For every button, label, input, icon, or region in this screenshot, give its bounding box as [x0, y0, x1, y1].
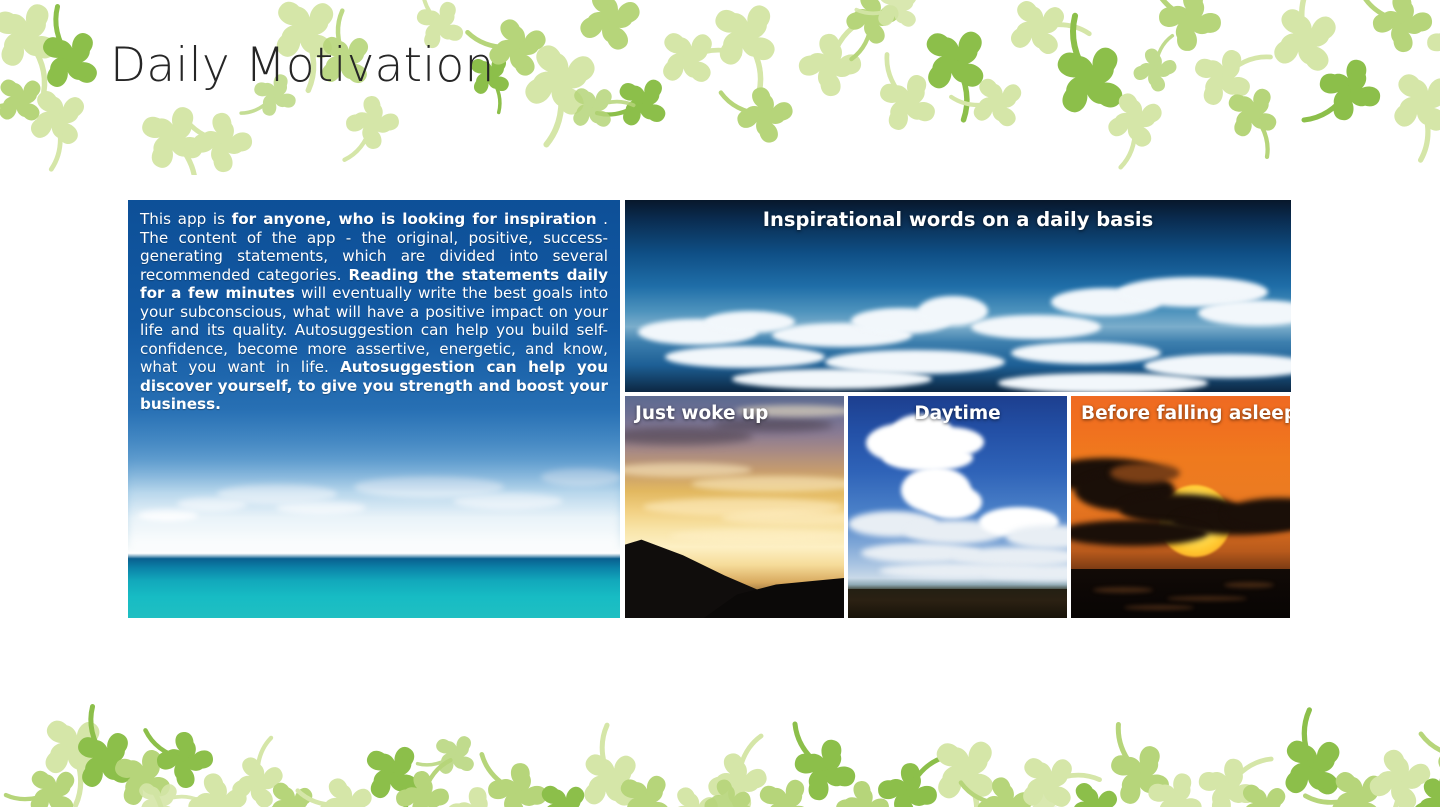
- clover-icon: [10, 750, 95, 807]
- hero-caption: Inspirational words on a daily basis: [625, 208, 1291, 231]
- clover-icon: [1030, 20, 1150, 145]
- clover-icon: [1090, 75, 1180, 170]
- clover-icon: [380, 755, 465, 807]
- clover-icon: [140, 715, 230, 807]
- clover-icon: [1420, 710, 1440, 807]
- clover-icon: [775, 720, 875, 807]
- clover-icon: [1250, 0, 1360, 100]
- thumbnail-caption: Daytime: [848, 403, 1067, 424]
- clover-icon: [1210, 70, 1295, 160]
- clover-icon: [95, 730, 190, 807]
- clover-icon: [560, 0, 660, 75]
- clover-icon: [0, 60, 60, 145]
- thumbnail-caption: Just woke up: [625, 403, 844, 424]
- clover-icon: [20, 10, 120, 115]
- clover-icon: [910, 715, 1020, 807]
- clover-icon: [55, 710, 155, 807]
- clover-icon: [520, 765, 605, 807]
- clover-icon: [1130, 755, 1220, 807]
- clover-icon: [860, 55, 955, 155]
- clover-border-bottom: [0, 655, 1440, 807]
- clover-icon: [1175, 30, 1270, 130]
- clover-icon: [860, 0, 935, 50]
- clover-icon: [860, 745, 955, 807]
- app-description-text: This app is for anyone, who is looking f…: [140, 210, 608, 414]
- clover-icon: [720, 70, 810, 165]
- clover-icon: [1355, 0, 1440, 75]
- clover-icon: [960, 760, 1050, 807]
- thumbnail-row: Just woke up: [625, 396, 1291, 618]
- clover-icon: [250, 765, 330, 807]
- app-description-panel: This app is for anyone, who is looking f…: [128, 200, 620, 618]
- clover-icon: [780, 15, 880, 120]
- clover-icon: [170, 755, 265, 807]
- clover-icon: [20, 695, 125, 805]
- clover-icon: [120, 765, 195, 807]
- thumbnail-caption: Before falling asleep: [1071, 403, 1290, 424]
- clover-icon: [1220, 765, 1305, 807]
- clover-icon: [1120, 35, 1190, 110]
- clover-icon: [690, 735, 785, 807]
- clover-icon: [650, 770, 735, 807]
- clover-icon: [690, 0, 800, 95]
- orange-sunset-sea-photo: [1071, 396, 1290, 618]
- clover-icon: [1300, 40, 1400, 145]
- clover-icon: [430, 770, 520, 807]
- clover-icon: [1410, 0, 1440, 95]
- page-title: Daily Motivation: [110, 38, 495, 93]
- clover-icon: [215, 740, 300, 807]
- thumbnail-daytime[interactable]: Daytime: [848, 396, 1067, 618]
- clover-icon: [560, 730, 660, 807]
- clover-icon: [640, 10, 735, 110]
- clover-icon: [1260, 715, 1365, 807]
- hero-image-card[interactable]: Inspirational words on a daily basis: [625, 200, 1291, 392]
- image-grid: Inspirational words on a daily basis Jus…: [625, 200, 1291, 618]
- clover-icon: [1370, 50, 1440, 160]
- clover-icon: [175, 95, 270, 175]
- clover-icon: [1350, 730, 1440, 807]
- clover-icon: [1010, 770, 1080, 807]
- clover-icon: [555, 70, 630, 150]
- clover-icon: [1395, 760, 1440, 807]
- thumbnail-before-falling-asleep[interactable]: Before falling asleep: [1071, 396, 1290, 618]
- clover-icon: [1000, 735, 1095, 807]
- clover-icon: [1310, 750, 1405, 807]
- content-area: This app is for anyone, who is looking f…: [128, 200, 1291, 618]
- clover-icon: [300, 760, 390, 807]
- clover-icon: [1050, 765, 1135, 807]
- clover-icon: [10, 70, 105, 170]
- clover-icon: [420, 720, 490, 795]
- blue-sky-clouds-photo: [848, 396, 1067, 618]
- clover-icon: [470, 745, 565, 807]
- clover-icon: [690, 765, 765, 807]
- clover-icon: [330, 80, 415, 170]
- clover-icon: [1180, 740, 1275, 807]
- clover-icon: [1090, 725, 1190, 807]
- clover-icon: [120, 85, 225, 175]
- thumbnail-just-woke-up[interactable]: Just woke up: [625, 396, 844, 618]
- sunrise-mountain-photo: [625, 396, 844, 618]
- clover-icon: [990, 0, 1085, 80]
- clover-icon: [900, 5, 1010, 120]
- clover-icon: [1140, 0, 1240, 75]
- clover-icon: [345, 725, 440, 807]
- clover-icon: [820, 765, 905, 807]
- clover-icon: [0, 0, 80, 95]
- clover-icon: [500, 20, 620, 145]
- clover-icon: [600, 60, 685, 150]
- clover-icon: [600, 755, 690, 807]
- clover-icon: [740, 760, 830, 807]
- clover-icon: [830, 0, 915, 65]
- clover-icon: [955, 60, 1040, 150]
